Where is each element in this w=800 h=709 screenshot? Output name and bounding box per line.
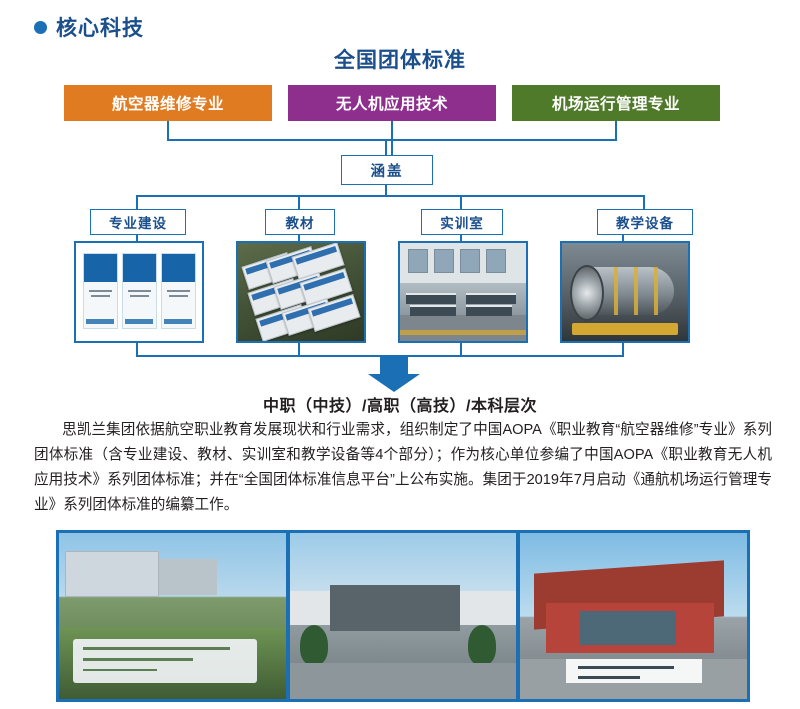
booklet-graphic [83, 253, 118, 329]
category-label-teaching-equipment: 教学设备 [597, 209, 693, 235]
photo-campus-stone-sign [59, 533, 286, 699]
education-levels-label: 中职（中技）/高职（高技）/本科层次 [0, 392, 800, 416]
blue-dot-icon [34, 21, 47, 34]
section-header: 核心科技 [34, 12, 144, 42]
booklet-graphic [122, 253, 157, 329]
top-box-airport-operation: 机场运行管理专业 [512, 85, 720, 121]
image-panel-booklets [74, 241, 204, 343]
booklet-graphic [161, 253, 196, 329]
image-panel-jet-engine [560, 241, 690, 343]
diagram-title: 全国团体标准 [0, 44, 800, 74]
textbook-stack-graphic [238, 243, 364, 341]
image-panel-training-lab [398, 241, 528, 343]
category-label-major-construction: 专业建设 [90, 209, 186, 235]
booklet-group-graphic [80, 247, 198, 337]
category-label-textbook: 教材 [265, 209, 335, 235]
page-title: 核心科技 [56, 12, 144, 42]
training-room-graphic [400, 243, 526, 341]
hub-node-cover: 涵盖 [341, 155, 433, 185]
top-box-aircraft-maintenance: 航空器维修专业 [64, 85, 272, 121]
description-paragraph: 思凯兰集团依据航空职业教育发展现状和行业需求，组织制定了中国AOPA《职业教育“… [34, 418, 772, 518]
jet-engine-graphic [562, 243, 688, 341]
photo-strip [56, 530, 750, 702]
photo-red-building [520, 533, 747, 699]
photo-school-gate [290, 533, 517, 699]
image-panel-textbooks [236, 241, 366, 343]
paragraph-text: 思凯兰集团依据航空职业教育发展现状和行业需求，组织制定了中国AOPA《职业教育“… [34, 422, 772, 513]
category-label-training-lab: 实训室 [421, 209, 503, 235]
top-box-uav-technology: 无人机应用技术 [288, 85, 496, 121]
